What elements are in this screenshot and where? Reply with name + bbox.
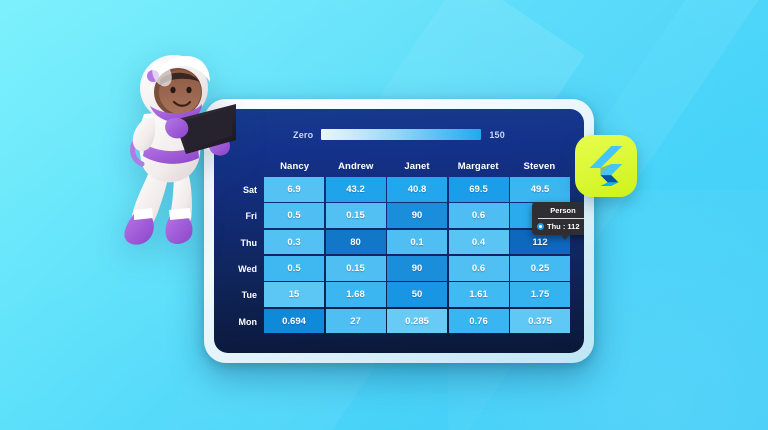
- heatmap-cell[interactable]: 50: [387, 282, 447, 307]
- heatmap-cell[interactable]: 0.1: [387, 230, 447, 255]
- heatmap-cell[interactable]: 0.5: [264, 256, 324, 281]
- astronaut-illustration: [112, 48, 236, 260]
- heatmap-cell[interactable]: 0.6: [449, 203, 509, 228]
- heatmap-row-header: Mon: [228, 309, 264, 335]
- heatmap-column-header: Steven: [509, 161, 570, 172]
- heatmap-column-header: Andrew: [325, 161, 386, 172]
- heatmap-row: Wed0.50.15900.60.25: [228, 256, 570, 282]
- heatmap-row-cells: 0.50.15900.60.25: [264, 256, 570, 282]
- heatmap-cell[interactable]: 1.68: [326, 282, 386, 307]
- heatmap-row-cells: 6.943.240.869.549.5: [264, 177, 570, 203]
- heatmap-cell[interactable]: 0.5: [264, 203, 324, 228]
- tooltip-marker-icon: [537, 223, 544, 230]
- flutter-logo-badge: [575, 135, 637, 197]
- heatmap-cell[interactable]: 0.15: [326, 203, 386, 228]
- heatmap-row: Thu0.3800.10.4112: [228, 230, 570, 256]
- heatmap-cell[interactable]: 27: [326, 309, 386, 334]
- heatmap-cell[interactable]: 0.694: [264, 309, 324, 334]
- heatmap-cell[interactable]: 49.5: [510, 177, 570, 202]
- heatmap-column-header: Margaret: [448, 161, 509, 172]
- heatmap-row-cells: 0.50.15900.60: [264, 203, 570, 229]
- heatmap-cell[interactable]: 80: [326, 230, 386, 255]
- heatmap-row: Sat6.943.240.869.549.5: [228, 177, 570, 203]
- heatmap-cell[interactable]: 0.15: [326, 256, 386, 281]
- heatmap-rows: Sat6.943.240.869.549.5Fri0.50.15900.60Th…: [228, 177, 570, 335]
- heatmap-row: Fri0.50.15900.60: [228, 203, 570, 229]
- tablet-screen: Zero 150 NancyAndrewJanetMargaretSteven …: [214, 109, 584, 353]
- heatmap-row-header: Tue: [228, 282, 264, 308]
- legend-max-label: 150: [489, 130, 505, 140]
- tooltip-arrow: [560, 234, 570, 240]
- heatmap-cell[interactable]: 43.2: [326, 177, 386, 202]
- flutter-icon: [589, 146, 623, 186]
- heatmap-column-headers: NancyAndrewJanetMargaretSteven: [228, 155, 570, 177]
- tooltip-value-text: Thu : 112: [547, 222, 580, 231]
- heatmap-row-cells: 0.694270.2850.760.375: [264, 309, 570, 335]
- tooltip-value-row: Thu : 112: [537, 222, 584, 231]
- heatmap-cell[interactable]: 69.5: [449, 177, 509, 202]
- heatmap-cell[interactable]: 0.6: [449, 256, 509, 281]
- heatmap-row-cells: 151.68501.611.75: [264, 282, 570, 308]
- heatmap-cell[interactable]: 0.285: [387, 309, 447, 334]
- heatmap-cell[interactable]: 0.25: [510, 256, 570, 281]
- legend-min-label: Zero: [293, 130, 313, 140]
- tooltip-title: Person: [537, 206, 584, 218]
- heatmap-cell[interactable]: 40.8: [387, 177, 447, 202]
- heatmap-cell[interactable]: 1.75: [510, 282, 570, 307]
- heatmap-cell[interactable]: 0.375: [510, 309, 570, 334]
- heatmap-row-cells: 0.3800.10.4112: [264, 230, 570, 256]
- heatmap-cell[interactable]: 90: [387, 256, 447, 281]
- heatmap-cell[interactable]: 90: [387, 203, 447, 228]
- heatmap-legend: Zero 150: [214, 129, 584, 140]
- heatmap-column-header: Nancy: [264, 161, 325, 172]
- heatmap-row: Tue151.68501.611.75: [228, 282, 570, 308]
- tablet-device: Zero 150 NancyAndrewJanetMargaretSteven …: [204, 99, 594, 363]
- legend-gradient-bar[interactable]: [321, 129, 481, 140]
- heatmap-column-header: Janet: [386, 161, 447, 172]
- heatmap-cell[interactable]: 15: [264, 282, 324, 307]
- heatmap-row: Mon0.694270.2850.760.375: [228, 309, 570, 335]
- heatmap-cell[interactable]: 6.9: [264, 177, 324, 202]
- heatmap-cell[interactable]: 0.76: [449, 309, 509, 334]
- tooltip-divider: [538, 218, 584, 219]
- heatmap-chart[interactable]: NancyAndrewJanetMargaretSteven Sat6.943.…: [228, 155, 570, 335]
- heatmap-tooltip: Person Thu : 112: [532, 202, 584, 235]
- heatmap-cell[interactable]: 0.4: [449, 230, 509, 255]
- screenshot-stage: Zero 150 NancyAndrewJanetMargaretSteven …: [0, 0, 768, 430]
- heatmap-cell[interactable]: 0.3: [264, 230, 324, 255]
- heatmap-cell[interactable]: 1.61: [449, 282, 509, 307]
